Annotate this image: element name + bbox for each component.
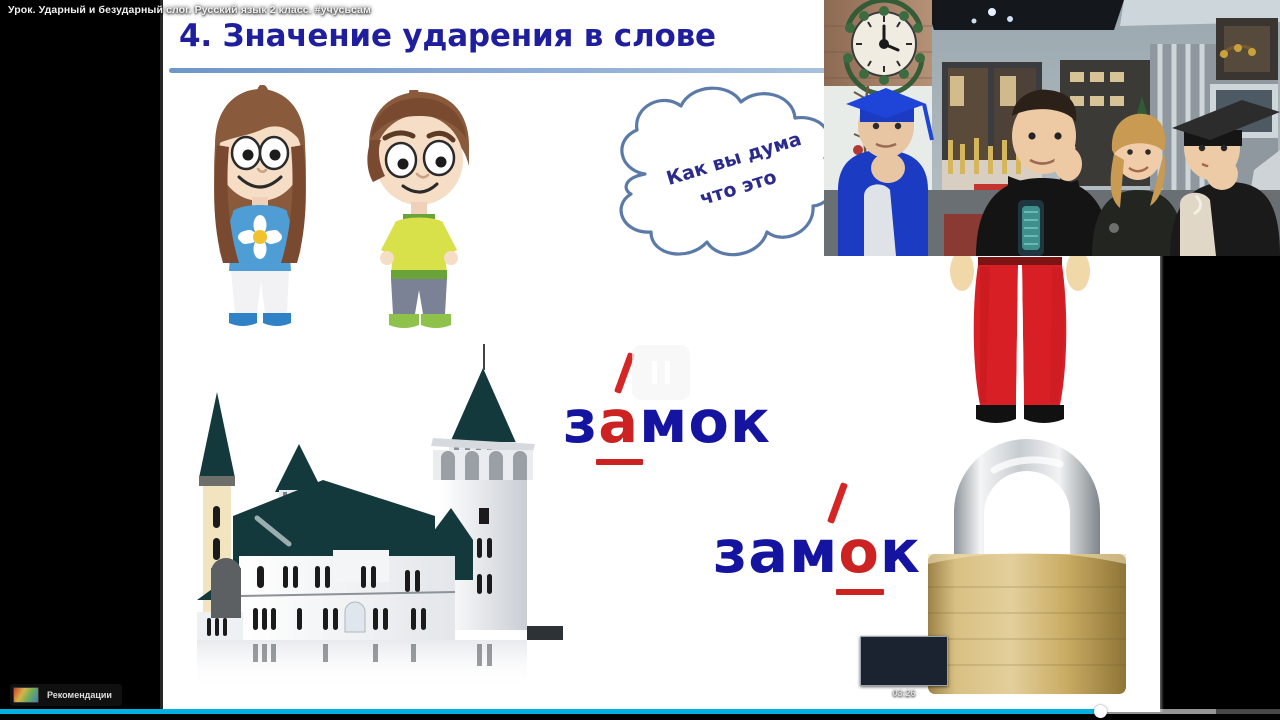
progress-bar[interactable] [0,709,1280,714]
word-castle: замок [563,392,771,451]
thought-bubble: Как вы дума что это [593,78,853,293]
webcam-overlay[interactable] [824,0,1280,256]
player-controls[interactable] [0,680,1280,720]
recommendations-label: Рекомендации [47,690,112,700]
slide-title: 4. Значение ударения в слове [179,18,716,54]
pause-bar-left [652,361,657,384]
scrubber-preview-time: 03:26 [860,688,948,698]
recommendations-thumbnail [13,687,39,703]
pause-icon[interactable] [632,345,690,400]
word-lock: замок [713,522,921,581]
word-lock-before: зам [713,517,838,586]
pause-bar-right [665,361,670,384]
word-castle-before: з [563,387,598,456]
scrubber-preview: 03:26 [860,636,948,698]
video-title: Урок. Ударный и безударный слог. Русский… [8,4,371,16]
recommendations-chip[interactable]: Рекомендации [10,684,122,706]
red-trousers-illustration [950,255,1090,440]
progress-played [0,709,1101,714]
word-lock-accent: о [838,517,880,586]
slide-left-edge [160,0,163,712]
progress-scrubber-knob[interactable] [1094,705,1107,718]
word-lock-after: к [880,517,921,586]
boy-character [351,90,486,335]
girl-character [195,85,325,335]
video-player[interactable]: 4. Значение ударения в слове [0,0,1280,720]
word-castle-accent: а [598,387,639,456]
scrubber-preview-thumbnail [860,636,948,686]
castle-illustration [183,330,583,707]
